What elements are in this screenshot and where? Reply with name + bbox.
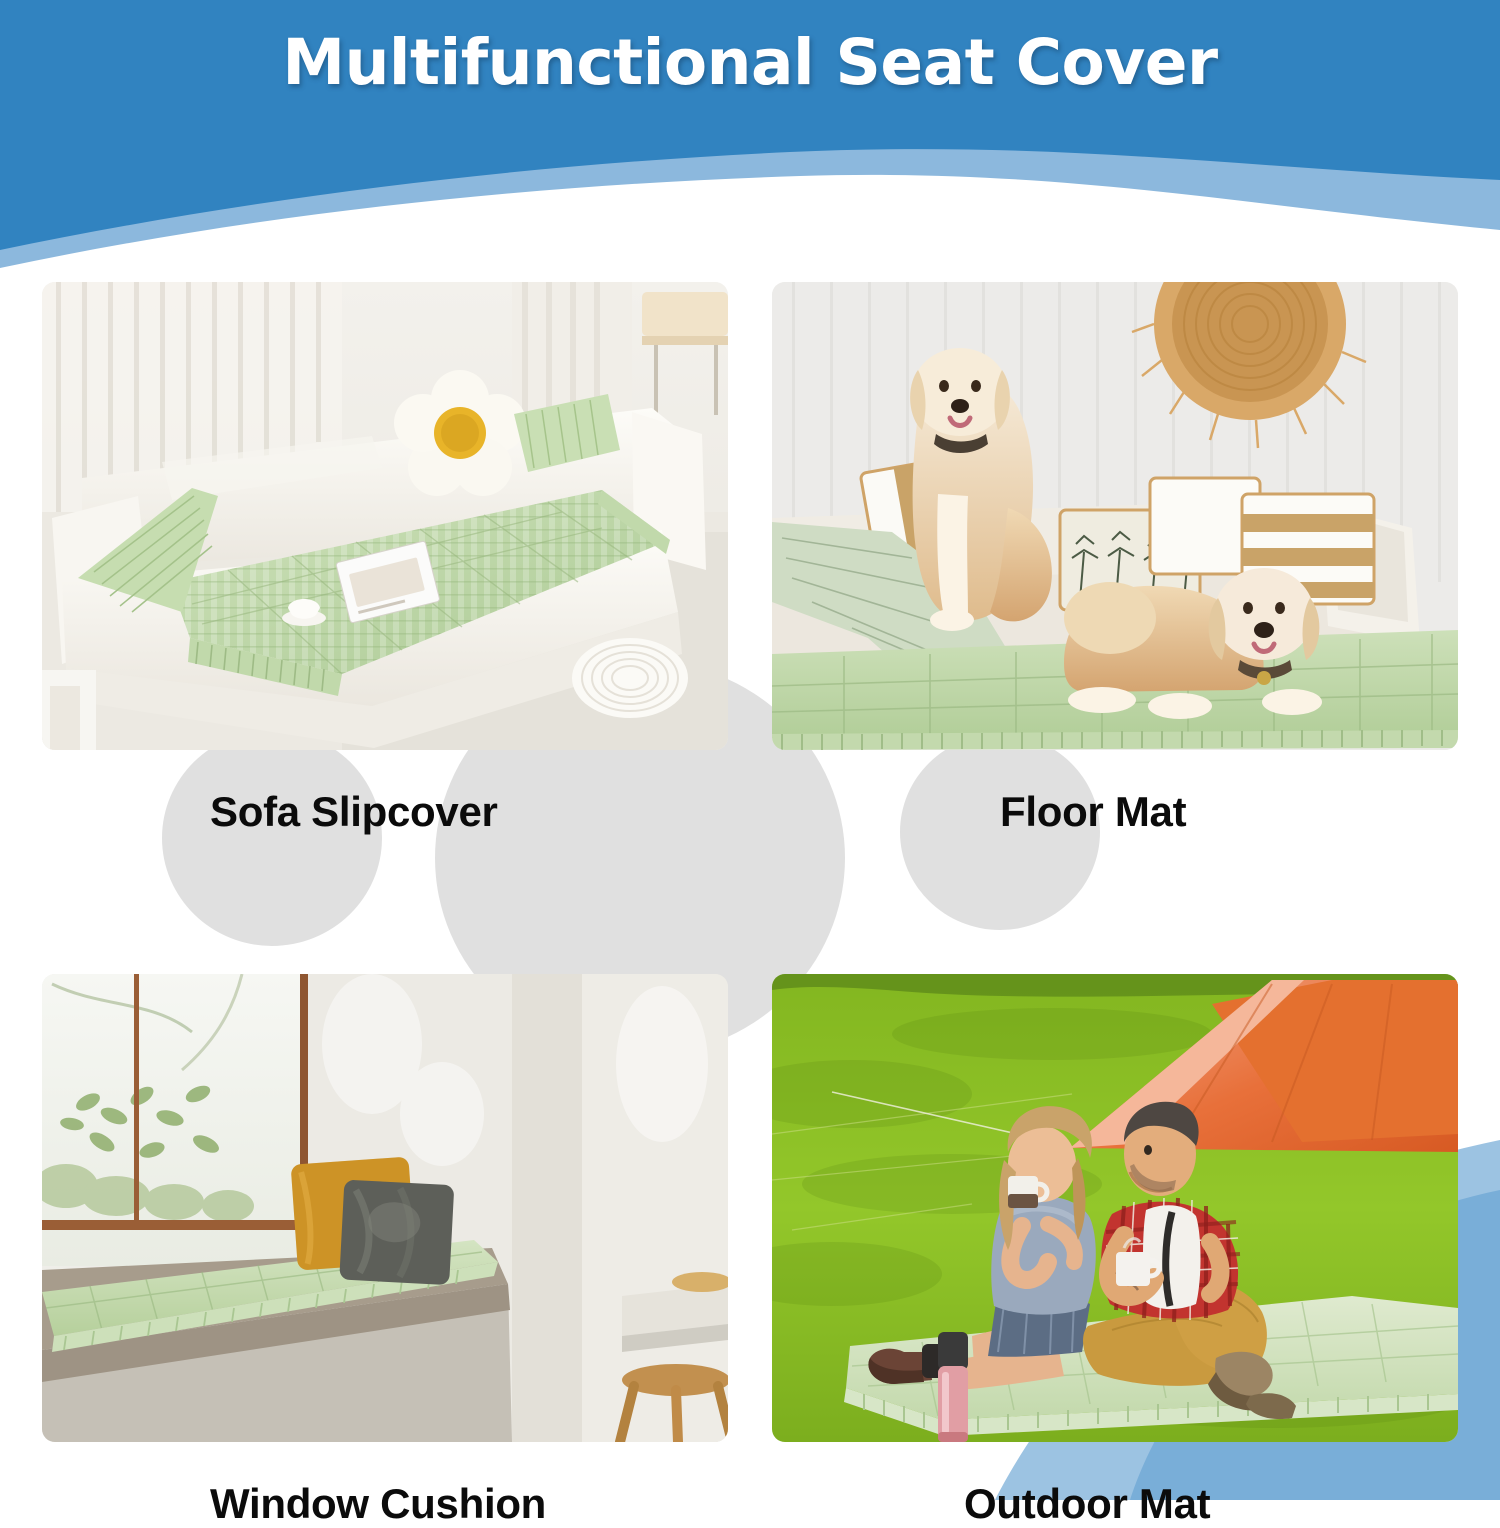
illustration-floor-mat [772,282,1458,750]
illustration-outdoor-mat [772,974,1458,1442]
card-outdoor-mat: Outdoor Mat [772,974,1458,1528]
caption-sofa-slipcover: Sofa Slipcover [42,788,728,836]
card-sofa-slipcover: Sofa Slipcover [42,282,728,836]
photo-outdoor-mat [772,974,1458,1442]
caption-window-cushion: Window Cushion [42,1480,728,1528]
photo-floor-mat [772,282,1458,750]
product-use-case-grid: Sofa Slipcover [42,282,1458,1528]
photo-window-cushion [42,974,728,1442]
photo-sofa-slipcover [42,282,728,750]
card-floor-mat: Floor Mat [772,282,1458,836]
thermos-flask [938,1332,968,1442]
caption-floor-mat: Floor Mat [772,788,1458,836]
illustration-window-cushion [42,974,728,1442]
caption-outdoor-mat: Outdoor Mat [772,1480,1458,1528]
card-window-cushion: Window Cushion [42,974,728,1528]
illustration-sofa-slipcover [42,282,728,750]
